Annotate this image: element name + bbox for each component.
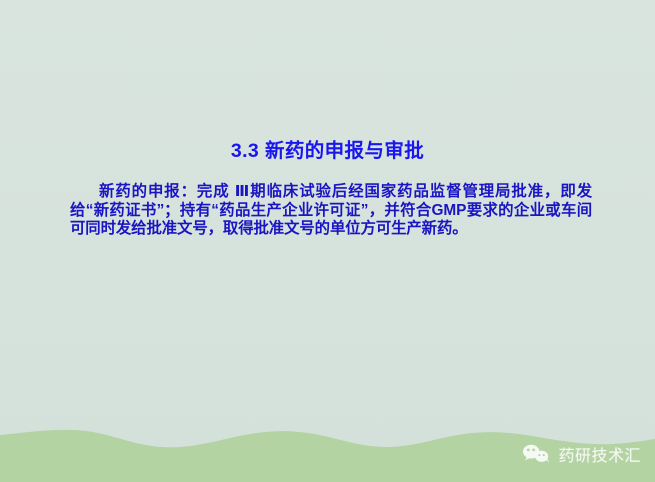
watermark-label: 药研技术汇 [558, 442, 641, 466]
wechat-icon [521, 444, 551, 464]
slide-body-paragraph: 新药的申报：完成 Ⅲ期临床试验后经国家药品监督管理局批准，即发给“新药证书”；持… [70, 183, 592, 239]
slide-title: 3.3 新药的申报与审批 [0, 134, 655, 163]
background-wash [0, 0, 655, 482]
slide-canvas: 3.3 新药的申报与审批 新药的申报：完成 Ⅲ期临床试验后经国家药品监督管理局批… [0, 0, 655, 482]
watermark: 药研技术汇 [521, 442, 641, 466]
